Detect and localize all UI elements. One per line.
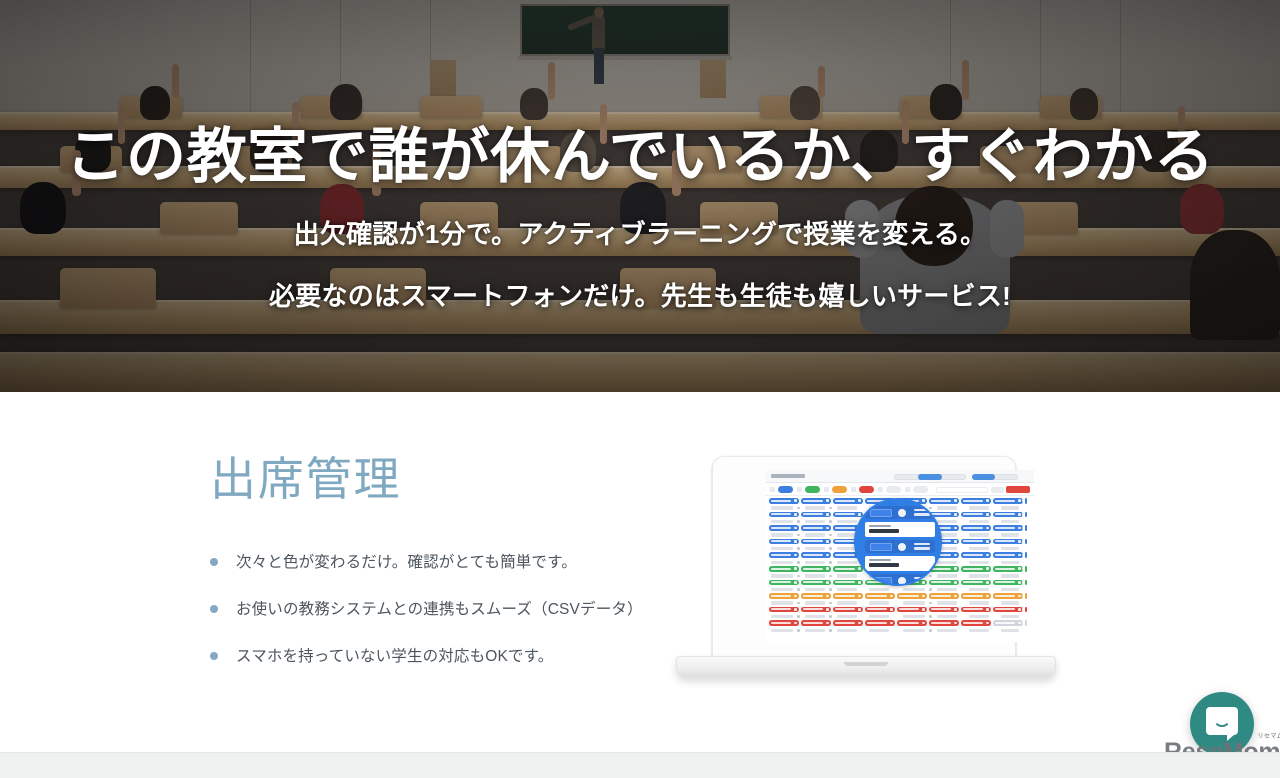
student-card <box>865 556 935 571</box>
attendance-cell[interactable] <box>897 607 927 613</box>
attendance-cell[interactable] <box>993 566 1023 572</box>
attendance-cell[interactable] <box>769 607 799 613</box>
hero-title: この教室で誰が休んでいるか、すぐわかる <box>65 125 1214 190</box>
attendance-cell[interactable] <box>801 539 831 545</box>
status-badge-early <box>832 486 847 493</box>
attendance-cell[interactable] <box>897 620 927 626</box>
bullet-dot-icon <box>210 652 218 660</box>
laptop-mockup <box>676 456 1056 686</box>
attendance-cell[interactable] <box>833 498 863 504</box>
attendance-cell[interactable] <box>833 607 863 613</box>
attendance-cell[interactable] <box>1025 498 1027 504</box>
attendance-cell[interactable] <box>801 607 831 613</box>
student-name <box>869 563 899 567</box>
attendance-cell[interactable] <box>1025 580 1027 586</box>
student-name <box>869 529 899 533</box>
app-logo <box>771 474 805 478</box>
attendance-cell[interactable] <box>993 620 1023 626</box>
search-input[interactable] <box>936 487 988 493</box>
feature-text-block: 出席管理 次々と色が変わるだけ。確認がとても簡単です。 お使いの教務システムとの… <box>210 454 680 692</box>
attendance-cell[interactable] <box>801 620 831 626</box>
primary-action-button[interactable] <box>1006 486 1030 493</box>
attendance-cell[interactable] <box>961 512 991 518</box>
attendance-cell[interactable] <box>929 620 959 626</box>
attendance-cell[interactable] <box>961 566 991 572</box>
laptop-notch <box>844 662 888 666</box>
attendance-cell[interactable] <box>1025 552 1027 558</box>
attendance-cell[interactable] <box>801 498 831 504</box>
list-item: スマホを持っていない学生の対応もOKです。 <box>210 645 680 668</box>
attendance-cell[interactable] <box>769 512 799 518</box>
attendance-cell[interactable] <box>769 525 799 531</box>
attendance-cell[interactable] <box>769 593 799 599</box>
status-badge-late <box>805 486 820 493</box>
footer-band <box>0 752 1280 778</box>
attendance-cell[interactable] <box>993 552 1023 558</box>
attendance-cell[interactable] <box>769 620 799 626</box>
hero-subtitle-2: 必要なのはスマートフォンだけ。先生も生徒も嬉しいサービス! <box>269 276 1011 313</box>
list-item-label: 次々と色が変わるだけ。確認がとても簡単です。 <box>236 554 577 571</box>
attendance-cell[interactable] <box>1025 566 1027 572</box>
attendance-app-preview <box>766 470 1034 642</box>
attendance-cell[interactable] <box>897 593 927 599</box>
view-segmented-control <box>894 474 966 480</box>
attendance-cell[interactable] <box>993 512 1023 518</box>
attendance-cell[interactable] <box>961 580 991 586</box>
attendance-cell[interactable] <box>1025 512 1027 518</box>
attendance-cell[interactable] <box>833 593 863 599</box>
attendance-cell[interactable] <box>801 525 831 531</box>
list-item: 次々と色が変わるだけ。確認がとても簡単です。 <box>210 551 680 574</box>
attendance-cell[interactable] <box>1025 593 1027 599</box>
hero-copy: この教室で誰が休んでいるか、すぐわかる 出欠確認が1分で。アクティブラーニングで… <box>0 0 1280 392</box>
table-row <box>769 593 1031 607</box>
watermark-furigana: リセマム <box>1258 731 1280 740</box>
attendance-cell[interactable] <box>801 512 831 518</box>
bullet-dot-icon <box>210 605 218 613</box>
smile-icon <box>1213 718 1231 727</box>
table-row <box>769 607 1031 621</box>
hero-section: この教室で誰が休んでいるか、すぐわかる 出欠確認が1分で。アクティブラーニングで… <box>0 0 1280 392</box>
list-item-label: お使いの教務システムとの連携もスムーズ（CSVデータ） <box>236 601 643 618</box>
app-toolbar <box>766 483 1034 496</box>
attendance-cell[interactable] <box>833 512 863 518</box>
status-badge-present <box>778 486 793 493</box>
attendance-cell[interactable] <box>801 552 831 558</box>
status-badge-absent <box>859 486 874 493</box>
attendance-cell[interactable] <box>865 620 895 626</box>
attendance-cell[interactable] <box>769 498 799 504</box>
hero-subtitle-1: 出欠確認が1分で。アクティブラーニングで授業を変える。 <box>294 214 987 251</box>
bullet-dot-icon <box>210 558 218 566</box>
attendance-cell[interactable] <box>1025 525 1027 531</box>
attendance-cell[interactable] <box>801 580 831 586</box>
attendance-cell[interactable] <box>865 607 895 613</box>
attendance-cell[interactable] <box>833 566 863 572</box>
attendance-cell[interactable] <box>961 607 991 613</box>
attendance-cell[interactable] <box>769 566 799 572</box>
attendance-cell[interactable] <box>993 580 1023 586</box>
attendance-cell[interactable] <box>1025 539 1027 545</box>
laptop-base <box>676 656 1056 678</box>
attendance-cell[interactable] <box>929 498 959 504</box>
chat-bubble-icon <box>1206 707 1238 735</box>
attendance-cell[interactable] <box>961 525 991 531</box>
attendance-cell[interactable] <box>929 593 959 599</box>
student-card <box>865 522 935 537</box>
attendance-cell[interactable] <box>1025 607 1027 613</box>
attendance-cell[interactable] <box>961 593 991 599</box>
attendance-cell[interactable] <box>833 580 863 586</box>
attendance-cell[interactable] <box>961 498 991 504</box>
attendance-cell[interactable] <box>801 566 831 572</box>
feature-title: 出席管理 <box>210 454 680 505</box>
feature-section: 出席管理 次々と色が変わるだけ。確認がとても簡単です。 お使いの教務システムとの… <box>0 392 1280 752</box>
attendance-cell[interactable] <box>993 593 1023 599</box>
landing-page: この教室で誰が休んでいるか、すぐわかる 出欠確認が1分で。アクティブラーニングで… <box>0 0 1280 778</box>
attendance-cell[interactable] <box>801 593 831 599</box>
attendance-cell[interactable] <box>961 620 991 626</box>
attendance-cell[interactable] <box>833 620 863 626</box>
attendance-cell[interactable] <box>865 593 895 599</box>
attendance-cell[interactable] <box>1025 620 1027 626</box>
laptop-lid <box>712 456 1016 658</box>
magnifier-overlay <box>854 498 942 586</box>
attendance-cell[interactable] <box>993 539 1023 545</box>
attendance-cell[interactable] <box>993 498 1023 504</box>
attendance-cell[interactable] <box>769 580 799 586</box>
attendance-cell[interactable] <box>993 525 1023 531</box>
table-row <box>769 620 1031 634</box>
attendance-cell[interactable] <box>769 552 799 558</box>
attendance-cell[interactable] <box>929 607 959 613</box>
attendance-cell[interactable] <box>993 607 1023 613</box>
laptop-screen <box>766 470 1034 642</box>
app-topbar <box>766 470 1034 483</box>
list-item-label: スマホを持っていない学生の対応もOKです。 <box>236 648 553 665</box>
mode-segmented-control <box>972 474 1018 480</box>
filter-button[interactable] <box>991 487 1004 493</box>
list-item: お使いの教務システムとの連携もスムーズ（CSVデータ） <box>210 598 680 621</box>
feature-bullet-list: 次々と色が変わるだけ。確認がとても簡単です。 お使いの教務システムとの連携もスム… <box>210 551 680 669</box>
attendance-cell[interactable] <box>769 539 799 545</box>
attendance-cell[interactable] <box>961 552 991 558</box>
attendance-cell[interactable] <box>961 539 991 545</box>
